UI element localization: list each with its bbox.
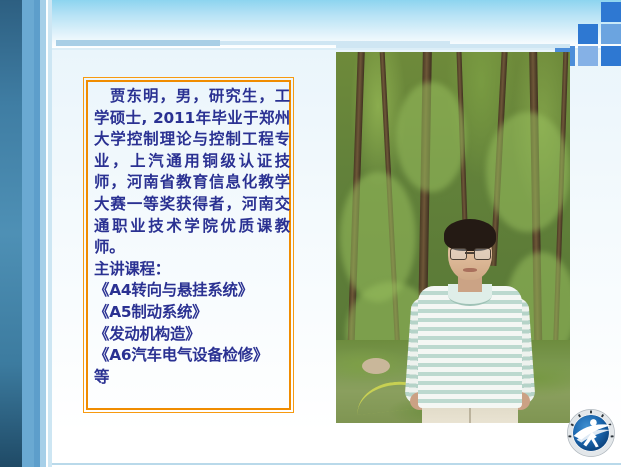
bio-paragraph: 贾东明，男，研究生，工学硕士, 2011年毕业于郑州大学控制理论与控制工程专业，…	[94, 86, 290, 259]
corner-square-5-icon	[578, 46, 598, 66]
photo-person-glasses-left-lens	[450, 248, 467, 260]
course-item-1: 《A4转向与悬挂系统》	[94, 280, 290, 302]
course-item-4: 《A6汽车电气设备检修》	[94, 345, 290, 367]
photo-person-mouth	[463, 268, 477, 272]
courses-heading: 主讲课程：	[94, 259, 290, 281]
photo-person-hair	[444, 219, 496, 251]
corner-square-3-icon	[601, 24, 621, 44]
left-stripe-pale	[48, 0, 52, 467]
instructor-photo	[336, 52, 570, 423]
bio-textbox-content: 贾东明，男，研究生，工学硕士, 2011年毕业于郑州大学控制理论与控制工程专业，…	[94, 86, 290, 406]
slide-canvas: 贾东明，男，研究生，工学硕士, 2011年毕业于郑州大学控制理论与控制工程专业，…	[0, 0, 621, 467]
background-footer-panel	[52, 433, 621, 467]
courses-etc-label: 等	[94, 367, 290, 389]
header-rule-thick	[56, 40, 220, 46]
corner-square-6-icon	[601, 46, 621, 66]
corner-square-1-icon	[601, 2, 621, 22]
photo-top-accent	[336, 44, 570, 48]
header-separator-line	[52, 48, 621, 50]
corner-square-2-icon	[578, 24, 598, 44]
footer-divider	[52, 463, 621, 465]
left-stripe-medium	[22, 0, 34, 467]
left-stripe-dark	[0, 0, 22, 467]
photo-person-glasses-right-lens	[474, 248, 491, 260]
course-item-2: 《A5制动系统》	[94, 302, 290, 324]
photo-person-glasses-bridge	[465, 252, 474, 254]
course-item-3: 《发动机构造》	[94, 324, 290, 346]
institution-emblem-logo	[567, 409, 615, 457]
photo-person	[336, 52, 570, 423]
